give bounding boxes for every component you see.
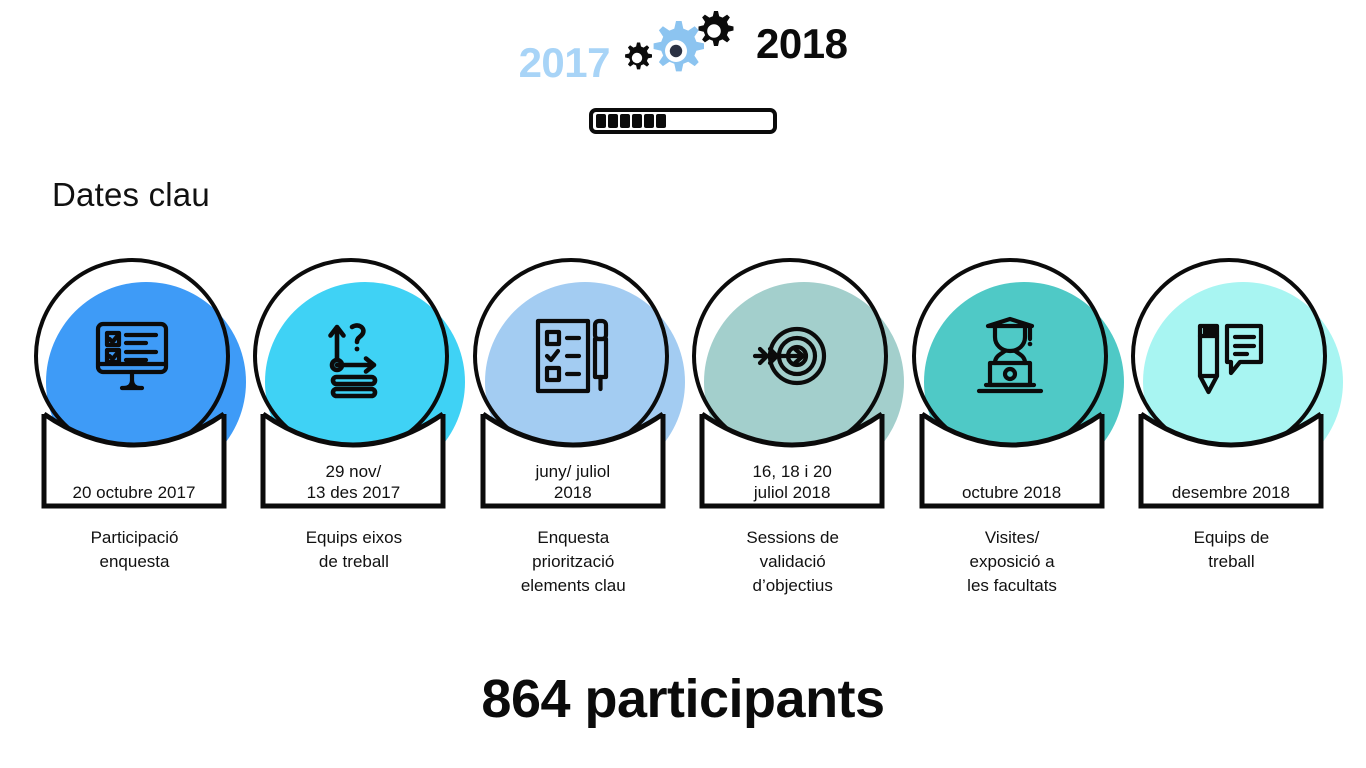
progress-segment — [608, 114, 618, 128]
timeline-caption: Sessions de validació d’objectius — [686, 526, 899, 598]
timeline-date-box: juny/ juliol 2018 — [479, 410, 667, 510]
year-gear-row: 2017 2018 — [0, 8, 1366, 98]
year-to-label: 2018 — [756, 23, 847, 65]
progress-segment — [596, 114, 606, 128]
timeline-item[interactable]: 29 nov/ 13 des 2017Equips eixos de treba… — [247, 248, 460, 628]
progress-segment — [716, 114, 726, 128]
progress-segment — [632, 114, 642, 128]
progress-segment — [728, 114, 738, 128]
gear-small-top-icon — [692, 9, 736, 58]
timeline: 20 octubre 2017Participació enquesta29 n… — [28, 248, 1338, 628]
timeline-date-label: juny/ juliol 2018 — [479, 461, 667, 503]
timeline-caption: Equips de treball — [1125, 526, 1338, 574]
timeline-caption: Visites/ exposició a les facultats — [906, 526, 1119, 598]
participants-total: 864 participants — [0, 668, 1366, 730]
progress-bar — [589, 108, 777, 134]
timeline-date-box: 29 nov/ 13 des 2017 — [259, 410, 447, 510]
timeline-caption: Enquesta priorització elements clau — [467, 526, 680, 598]
timeline-item[interactable]: juny/ juliol 2018Enquesta priorització e… — [467, 248, 680, 628]
progress-wrap — [0, 108, 1366, 134]
timeline-date-label: octubre 2018 — [918, 482, 1106, 503]
header-band: 2017 2018 — [0, 0, 1366, 160]
progress-segment — [644, 114, 654, 128]
year-from-label: 2017 — [519, 42, 610, 84]
timeline-item[interactable]: octubre 2018Visites/ exposició a les fac… — [906, 248, 1119, 628]
timeline-item[interactable]: 16, 18 i 20 juliol 2018Sessions de valid… — [686, 248, 899, 628]
timeline-item[interactable]: 20 octubre 2017Participació enquesta — [28, 248, 241, 628]
timeline-date-box: 16, 18 i 20 juliol 2018 — [698, 410, 886, 510]
progress-segment — [740, 114, 750, 128]
progress-segment — [704, 114, 714, 128]
timeline-date-label: 20 octubre 2017 — [40, 482, 228, 503]
progress-segment — [752, 114, 762, 128]
progress-segment — [656, 114, 666, 128]
page-title: Dates clau — [52, 176, 210, 214]
gear-cluster — [616, 7, 748, 99]
timeline-caption: Participació enquesta — [28, 526, 241, 574]
progress-segment — [692, 114, 702, 128]
progress-segment — [680, 114, 690, 128]
timeline-caption: Equips eixos de treball — [247, 526, 460, 574]
timeline-date-box: octubre 2018 — [918, 410, 1106, 510]
timeline-date-box: desembre 2018 — [1137, 410, 1325, 510]
timeline-date-label: desembre 2018 — [1137, 482, 1325, 503]
timeline-date-label: 29 nov/ 13 des 2017 — [259, 461, 447, 503]
timeline-date-box: 20 octubre 2017 — [40, 410, 228, 510]
timeline-item[interactable]: desembre 2018Equips de treball — [1125, 248, 1338, 628]
timeline-date-label: 16, 18 i 20 juliol 2018 — [698, 461, 886, 503]
progress-segment — [668, 114, 678, 128]
progress-segment — [620, 114, 630, 128]
